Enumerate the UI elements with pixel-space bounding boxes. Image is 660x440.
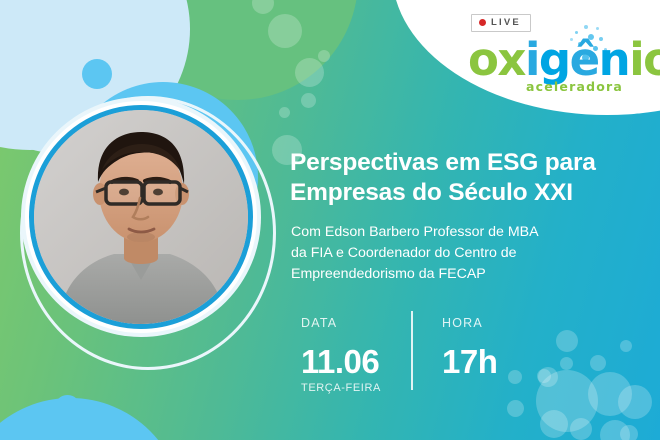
banner-subtitle-line2: da FIA e Coordenador do Centro de	[291, 243, 601, 264]
bubble-decoration	[588, 372, 632, 416]
bubble-decoration	[301, 93, 316, 108]
banner-subtitle: Com Edson Barbero Professor de MBA da FI…	[291, 222, 601, 285]
logo-part-ox: ox	[468, 33, 525, 86]
live-badge-label: LIVE	[491, 18, 521, 28]
bubble-decoration	[508, 370, 522, 384]
photo-backdrop-dot	[82, 59, 112, 89]
live-badge: LIVE	[471, 14, 531, 32]
bubble-decoration	[590, 355, 606, 371]
bubble-decoration	[540, 410, 568, 438]
bubble-decoration	[570, 418, 592, 440]
bubble-decoration	[318, 50, 330, 62]
date-label: DATA	[301, 316, 381, 330]
bubble-decoration	[295, 58, 324, 87]
speaker-photo	[25, 101, 257, 333]
banner-title: Perspectivas em ESG para Empresas do Séc…	[290, 148, 620, 208]
logo-part-io: io	[629, 33, 660, 86]
speaker-photo-ring	[29, 105, 253, 329]
time-value: 17h	[442, 344, 497, 380]
date-weekday: TERÇA-FEIRA	[301, 382, 381, 394]
date-block: DATA 11.06 TERÇA-FEIRA	[301, 316, 381, 394]
bubble-decoration	[560, 357, 573, 370]
bubble-decoration	[268, 14, 302, 48]
oxigenio-logo: oxigênio aceleradora	[468, 36, 643, 98]
bubble-decoration	[279, 107, 290, 118]
bottom-blue-circle-decoration	[0, 398, 183, 440]
banner-title-line1: Perspectivas em ESG para	[290, 148, 620, 178]
bottom-blue-dot-decoration	[54, 395, 81, 422]
banner-subtitle-line3: Empreendedorismo da FECAP	[291, 264, 601, 285]
logo-wordmark: oxigênio	[468, 36, 660, 84]
logo-tagline: aceleradora	[526, 79, 623, 94]
bubble-decoration	[556, 330, 578, 352]
bubble-decoration	[507, 400, 524, 417]
bubble-decoration	[620, 425, 638, 440]
live-dot-icon	[479, 19, 486, 26]
banner-title-line2: Empresas do Século XXI	[290, 178, 620, 208]
time-label: HORA	[442, 316, 497, 330]
webinar-banner: LIVE oxigênio aceleradora	[0, 0, 660, 440]
bubble-decoration	[620, 340, 632, 352]
speaker-photo-image	[34, 110, 248, 324]
banner-subtitle-line1: Com Edson Barbero Professor de MBA	[291, 222, 601, 243]
time-block: HORA 17h	[442, 316, 497, 380]
date-value: 11.06	[301, 344, 381, 380]
speaker-portrait-illustration	[34, 110, 248, 324]
date-time-divider	[411, 311, 413, 390]
bubble-decoration	[537, 369, 551, 383]
